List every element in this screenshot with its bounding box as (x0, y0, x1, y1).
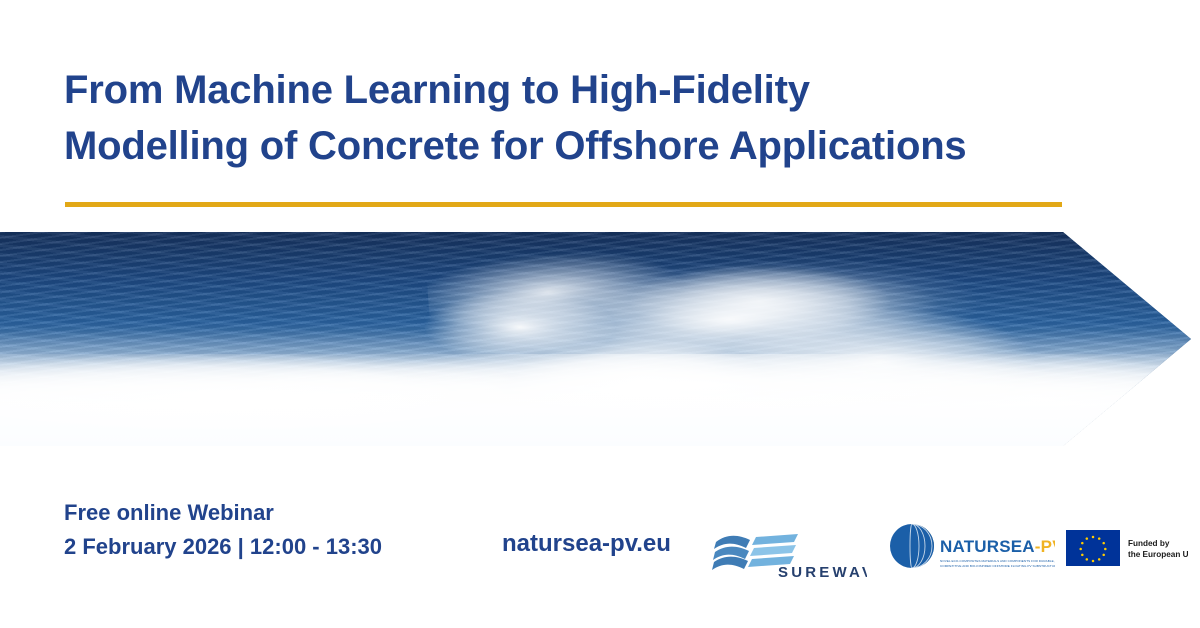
gold-divider-rule (65, 202, 1062, 207)
website-link[interactable]: natursea-pv.eu (502, 530, 671, 558)
title-line-1: From Machine Learning to High-Fidelity (64, 62, 1074, 118)
natursea-pv-logo[interactable]: NATURSEA-PV NOVEL ECO-COMPOSITES MATERIA… (890, 520, 1055, 578)
wave-photo-art (0, 232, 1200, 446)
title-line-2: Modelling of Concrete for Offshore Appli… (64, 118, 1074, 174)
natursea-pv-logo-mark: NATURSEA-PV NOVEL ECO-COMPOSITES MATERIA… (890, 520, 1055, 578)
event-datetime-label: 2 February 2026 | 12:00 - 13:30 (64, 530, 382, 564)
eu-funded-line-2: the European Union (1128, 550, 1188, 559)
page-title: From Machine Learning to High-Fidelity M… (64, 62, 1074, 174)
natursea-tagline-line-2: COMPETITIVE AND BIO-INSPIRED OFFSHORE FL… (940, 564, 1055, 568)
surewave-logo[interactable]: SUREWAVE (712, 528, 867, 580)
eu-funded-line-1: Funded by (1128, 539, 1170, 548)
eu-funding-logo[interactable]: Funded by the European Union (1066, 528, 1188, 570)
natursea-tagline-line-1: NOVEL ECO-COMPOSITES MATERIALS AND COMPO… (940, 559, 1055, 563)
webinar-details: Free online Webinar 2 February 2026 | 12… (64, 496, 382, 564)
surewave-logo-mark: SUREWAVE (712, 528, 867, 580)
surewave-wordmark: SUREWAVE (778, 564, 867, 580)
hero-wave-image (0, 232, 1200, 446)
natursea-wordmark: NATURSEA-PV (940, 537, 1055, 556)
eu-flag-icon: Funded by the European Union (1066, 528, 1188, 570)
event-type-label: Free online Webinar (64, 496, 382, 530)
